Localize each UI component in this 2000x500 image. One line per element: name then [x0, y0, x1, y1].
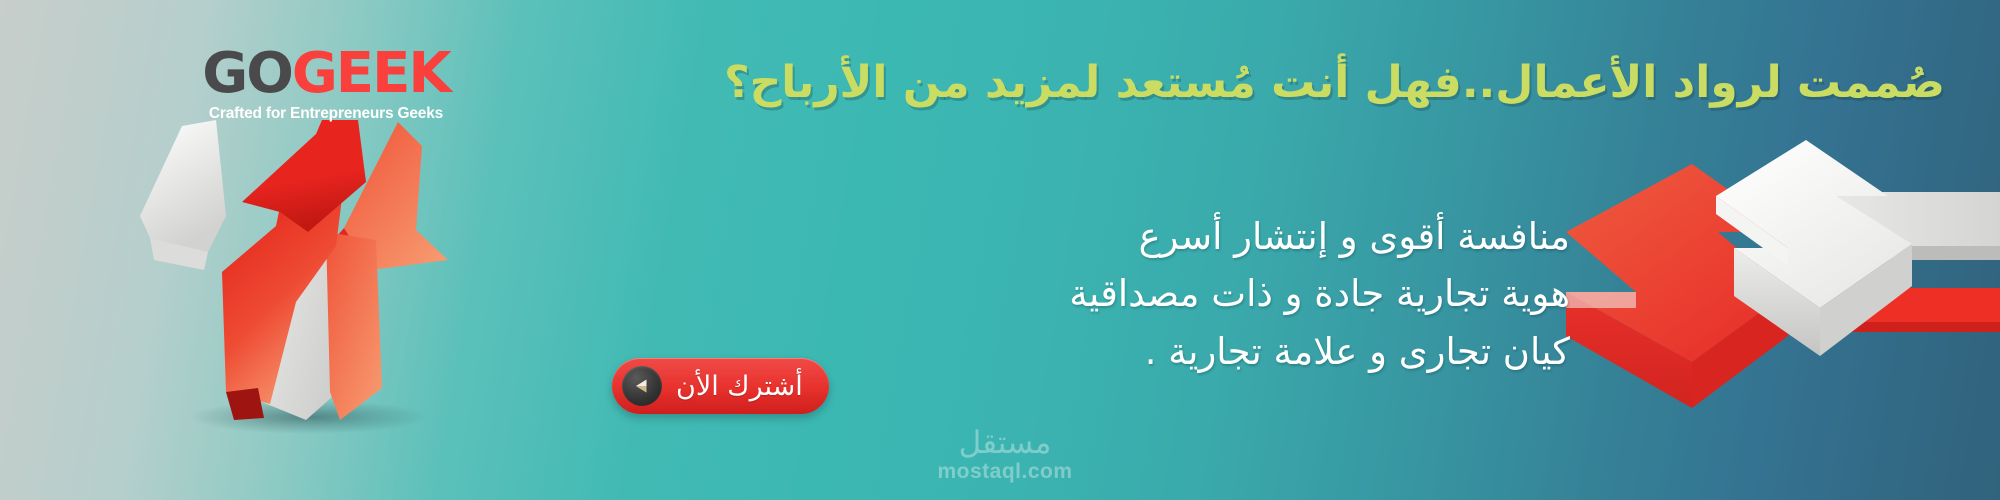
- play-triangle-left-icon: [622, 366, 662, 406]
- logo-wordmark: GOGEEK: [196, 46, 456, 102]
- watermark-latin: mostaql.com: [920, 461, 1090, 482]
- brand-logo: GOGEEK Crafted for Entrepreneurs Geeks: [196, 46, 456, 123]
- body-line-1: منافسة أقوى و إنتشار أسرع: [850, 208, 1570, 265]
- promo-banner: GOGEEK Crafted for Entrepreneurs Geeks ص…: [0, 0, 2000, 500]
- subscribe-now-label: أشترك الأن: [676, 371, 803, 402]
- subscribe-now-button[interactable]: أشترك الأن: [612, 358, 829, 414]
- headline-left-phrase: فهل أنت مُستعد لمزيد من الأرباح؟: [724, 57, 1462, 108]
- headline: صُممت لرواد الأعمال..فهل أنت مُستعد لمزي…: [525, 55, 1945, 110]
- right-arrows-artwork: [1520, 140, 2000, 430]
- body-copy: منافسة أقوى و إنتشار أسرع هوية تجارية جا…: [850, 208, 1570, 380]
- logo-word-go: GO: [202, 41, 292, 106]
- orange-column: [326, 232, 382, 420]
- body-line-2: هوية تجارية جادة و ذات مصداقية: [850, 265, 1570, 322]
- mostaql-watermark: مستقل mostaql.com: [920, 428, 1090, 482]
- logo-tagline: Crafted for Entrepreneurs Geeks: [196, 105, 456, 123]
- red-arrow-head: [242, 120, 366, 232]
- headline-right-phrase: صُممت لرواد الأعمال: [1495, 57, 1945, 108]
- logo-word-geek: GEEK: [292, 41, 450, 106]
- red-tail-bar-edge: [1850, 322, 2000, 332]
- watermark-arabic: مستقل: [920, 428, 1090, 459]
- white-wing-left: [140, 120, 226, 252]
- left-arrows-artwork: [130, 120, 470, 450]
- headline-separator: ..: [1462, 57, 1495, 108]
- red-arrow-highlight: [1566, 292, 1636, 308]
- body-line-3: كيان تجارى و علامة تجارية .: [850, 323, 1570, 380]
